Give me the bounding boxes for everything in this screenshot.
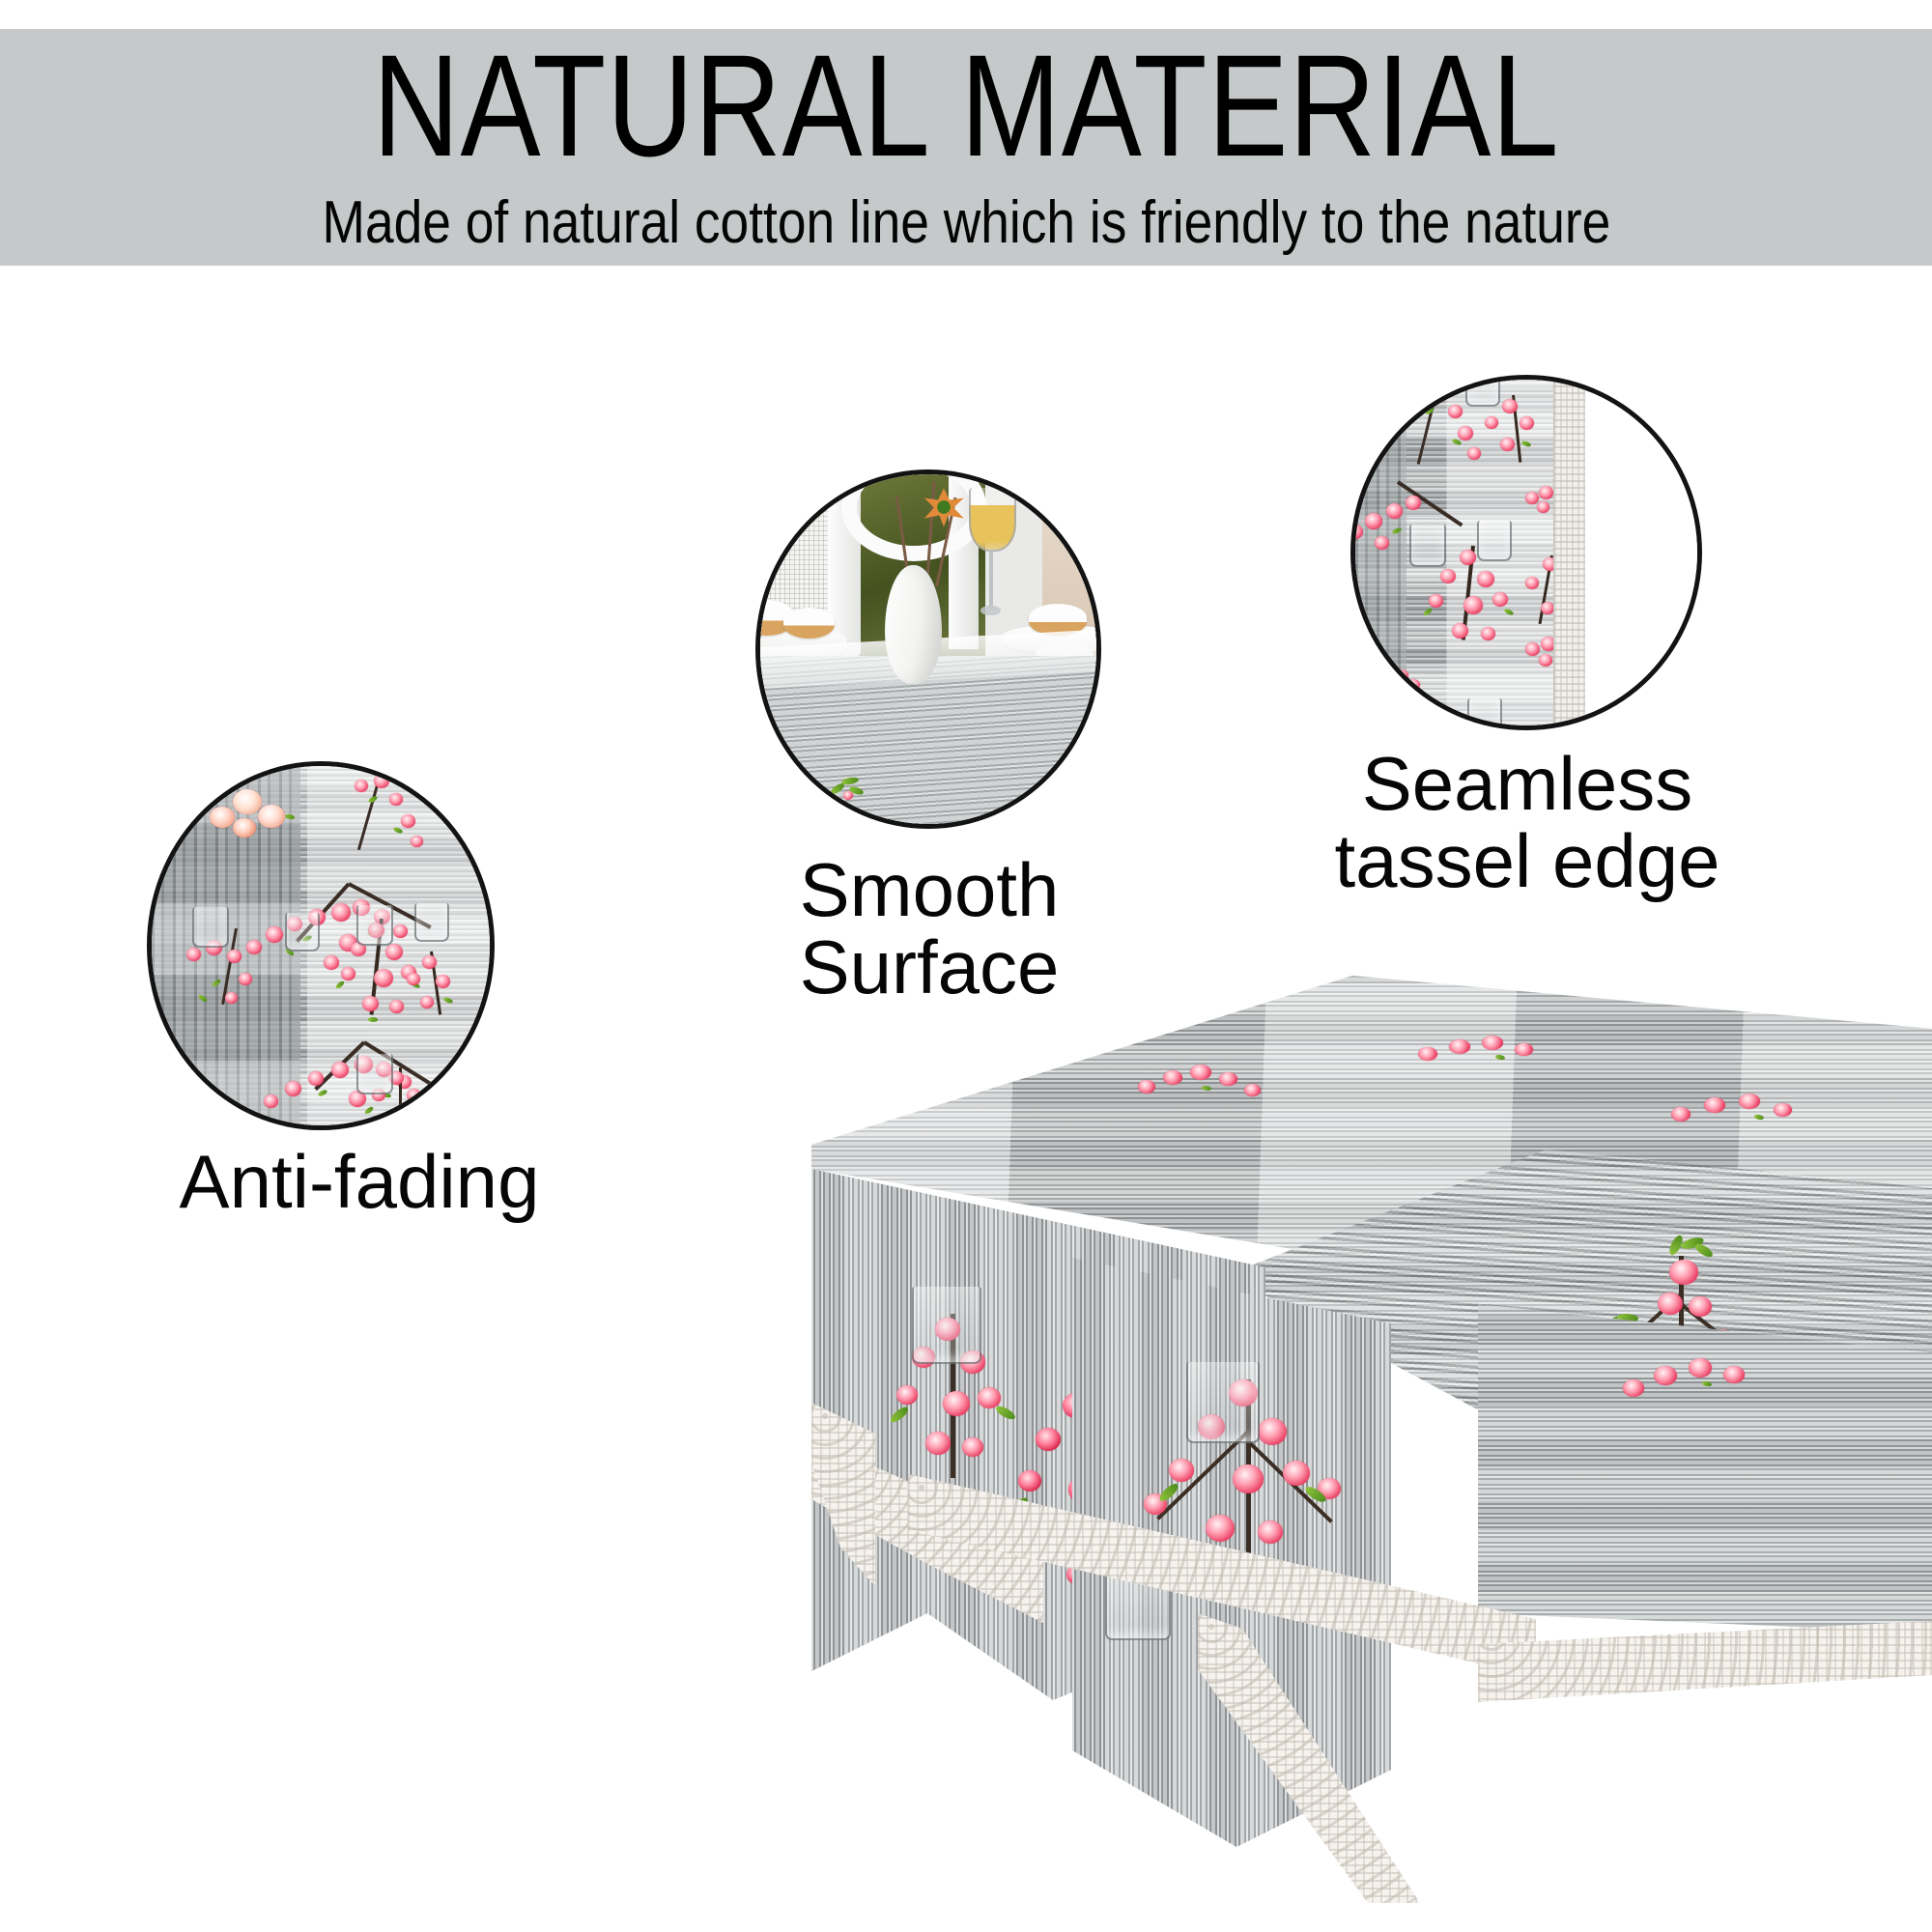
seamless-tassel-edge-caption: Seamless tassel edge	[1293, 746, 1762, 899]
blossom-sprig	[1130, 1053, 1275, 1121]
blossom-sprig	[1410, 1026, 1565, 1088]
glass-jar-icon	[192, 907, 229, 948]
glass-jar-icon	[1477, 521, 1512, 561]
blossom-sprig	[395, 952, 472, 1029]
glass-jar-icon	[1186, 1362, 1260, 1443]
smooth-surface-caption-line1: Smooth	[697, 852, 1161, 929]
glass-jar-icon	[414, 903, 449, 942]
page-title: NATURAL MATERIAL	[373, 33, 1560, 178]
glass-jar-icon	[285, 913, 320, 952]
glass-jar-icon	[1465, 380, 1500, 407]
tassel-caption-line2: tassel edge	[1293, 823, 1762, 900]
tassel-caption-line1: Seamless	[1293, 746, 1762, 823]
smooth-surface-image	[755, 469, 1101, 829]
hero-product-photo	[811, 976, 1932, 1932]
blossom-sprig	[1471, 395, 1553, 472]
blossom-sprig	[204, 780, 310, 847]
glass-jar-icon	[912, 1287, 981, 1364]
page-subtitle: Made of natural cotton line which is fri…	[322, 193, 1610, 253]
blossom-sprig	[1521, 482, 1553, 521]
green-sprout-icon	[828, 774, 868, 803]
blossom-sprig	[1521, 633, 1553, 677]
feature-smooth-surface: Smooth Surface	[755, 469, 1103, 829]
glass-jar-icon	[356, 905, 393, 946]
blossom-sprig	[1375, 666, 1433, 704]
blossom-sprig	[1662, 1082, 1826, 1150]
feature-anti-fading: Anti-fading	[147, 761, 572, 1130]
product-infographic: NATURAL MATERIAL Made of natural cotton …	[0, 0, 1932, 1932]
glass-jar-icon	[1409, 525, 1446, 567]
tablecloth-right-drape	[1478, 1294, 1932, 1777]
lace-trim-right-side	[1478, 1621, 1932, 1747]
blossom-sprig	[335, 772, 436, 859]
feature-seamless-tassel-edge: Seamless tassel edge	[1350, 375, 1704, 730]
donut-icon	[783, 608, 834, 639]
glass-jar-icon	[356, 1054, 393, 1094]
header-banner: NATURAL MATERIAL Made of natural cotton …	[0, 29, 1932, 266]
blossom-sprig	[1613, 1333, 1787, 1449]
anti-fading-image	[147, 761, 495, 1130]
glass-jar-icon	[1467, 698, 1502, 725]
vase-icon	[885, 565, 942, 684]
anti-fading-caption: Anti-fading	[118, 1144, 601, 1221]
lace-tassel-trim	[1553, 380, 1585, 725]
blossom-sprig	[1514, 555, 1553, 639]
seamless-tassel-edge-image	[1350, 375, 1702, 730]
wine-glass-icon	[969, 488, 1012, 628]
